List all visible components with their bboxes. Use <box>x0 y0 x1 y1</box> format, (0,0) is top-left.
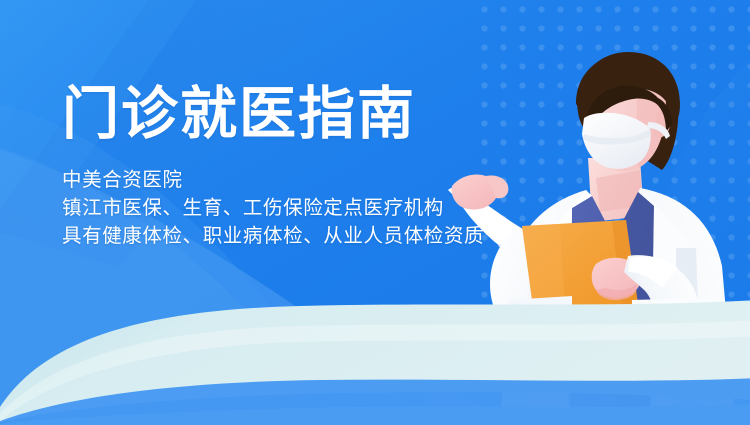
subtitle-line-1: 中美合资医院 <box>62 166 484 194</box>
subtitle-list: 中美合资医院 镇江市医保、生育、工伤保险定点医疗机构 具有健康体检、职业病体检、… <box>62 166 484 250</box>
banner-text-block: 门诊就医指南 中美合资医院 镇江市医保、生育、工伤保险定点医疗机构 具有健康体检… <box>62 84 484 250</box>
subtitle-line-3: 具有健康体检、职业病体检、从业人员体检资质 <box>62 222 484 250</box>
page-title: 门诊就医指南 <box>62 84 484 146</box>
clinic-guide-banner: 门诊就医指南 中美合资医院 镇江市医保、生育、工伤保险定点医疗机构 具有健康体检… <box>0 0 750 425</box>
subtitle-line-2: 镇江市医保、生育、工伤保险定点医疗机构 <box>62 194 484 222</box>
